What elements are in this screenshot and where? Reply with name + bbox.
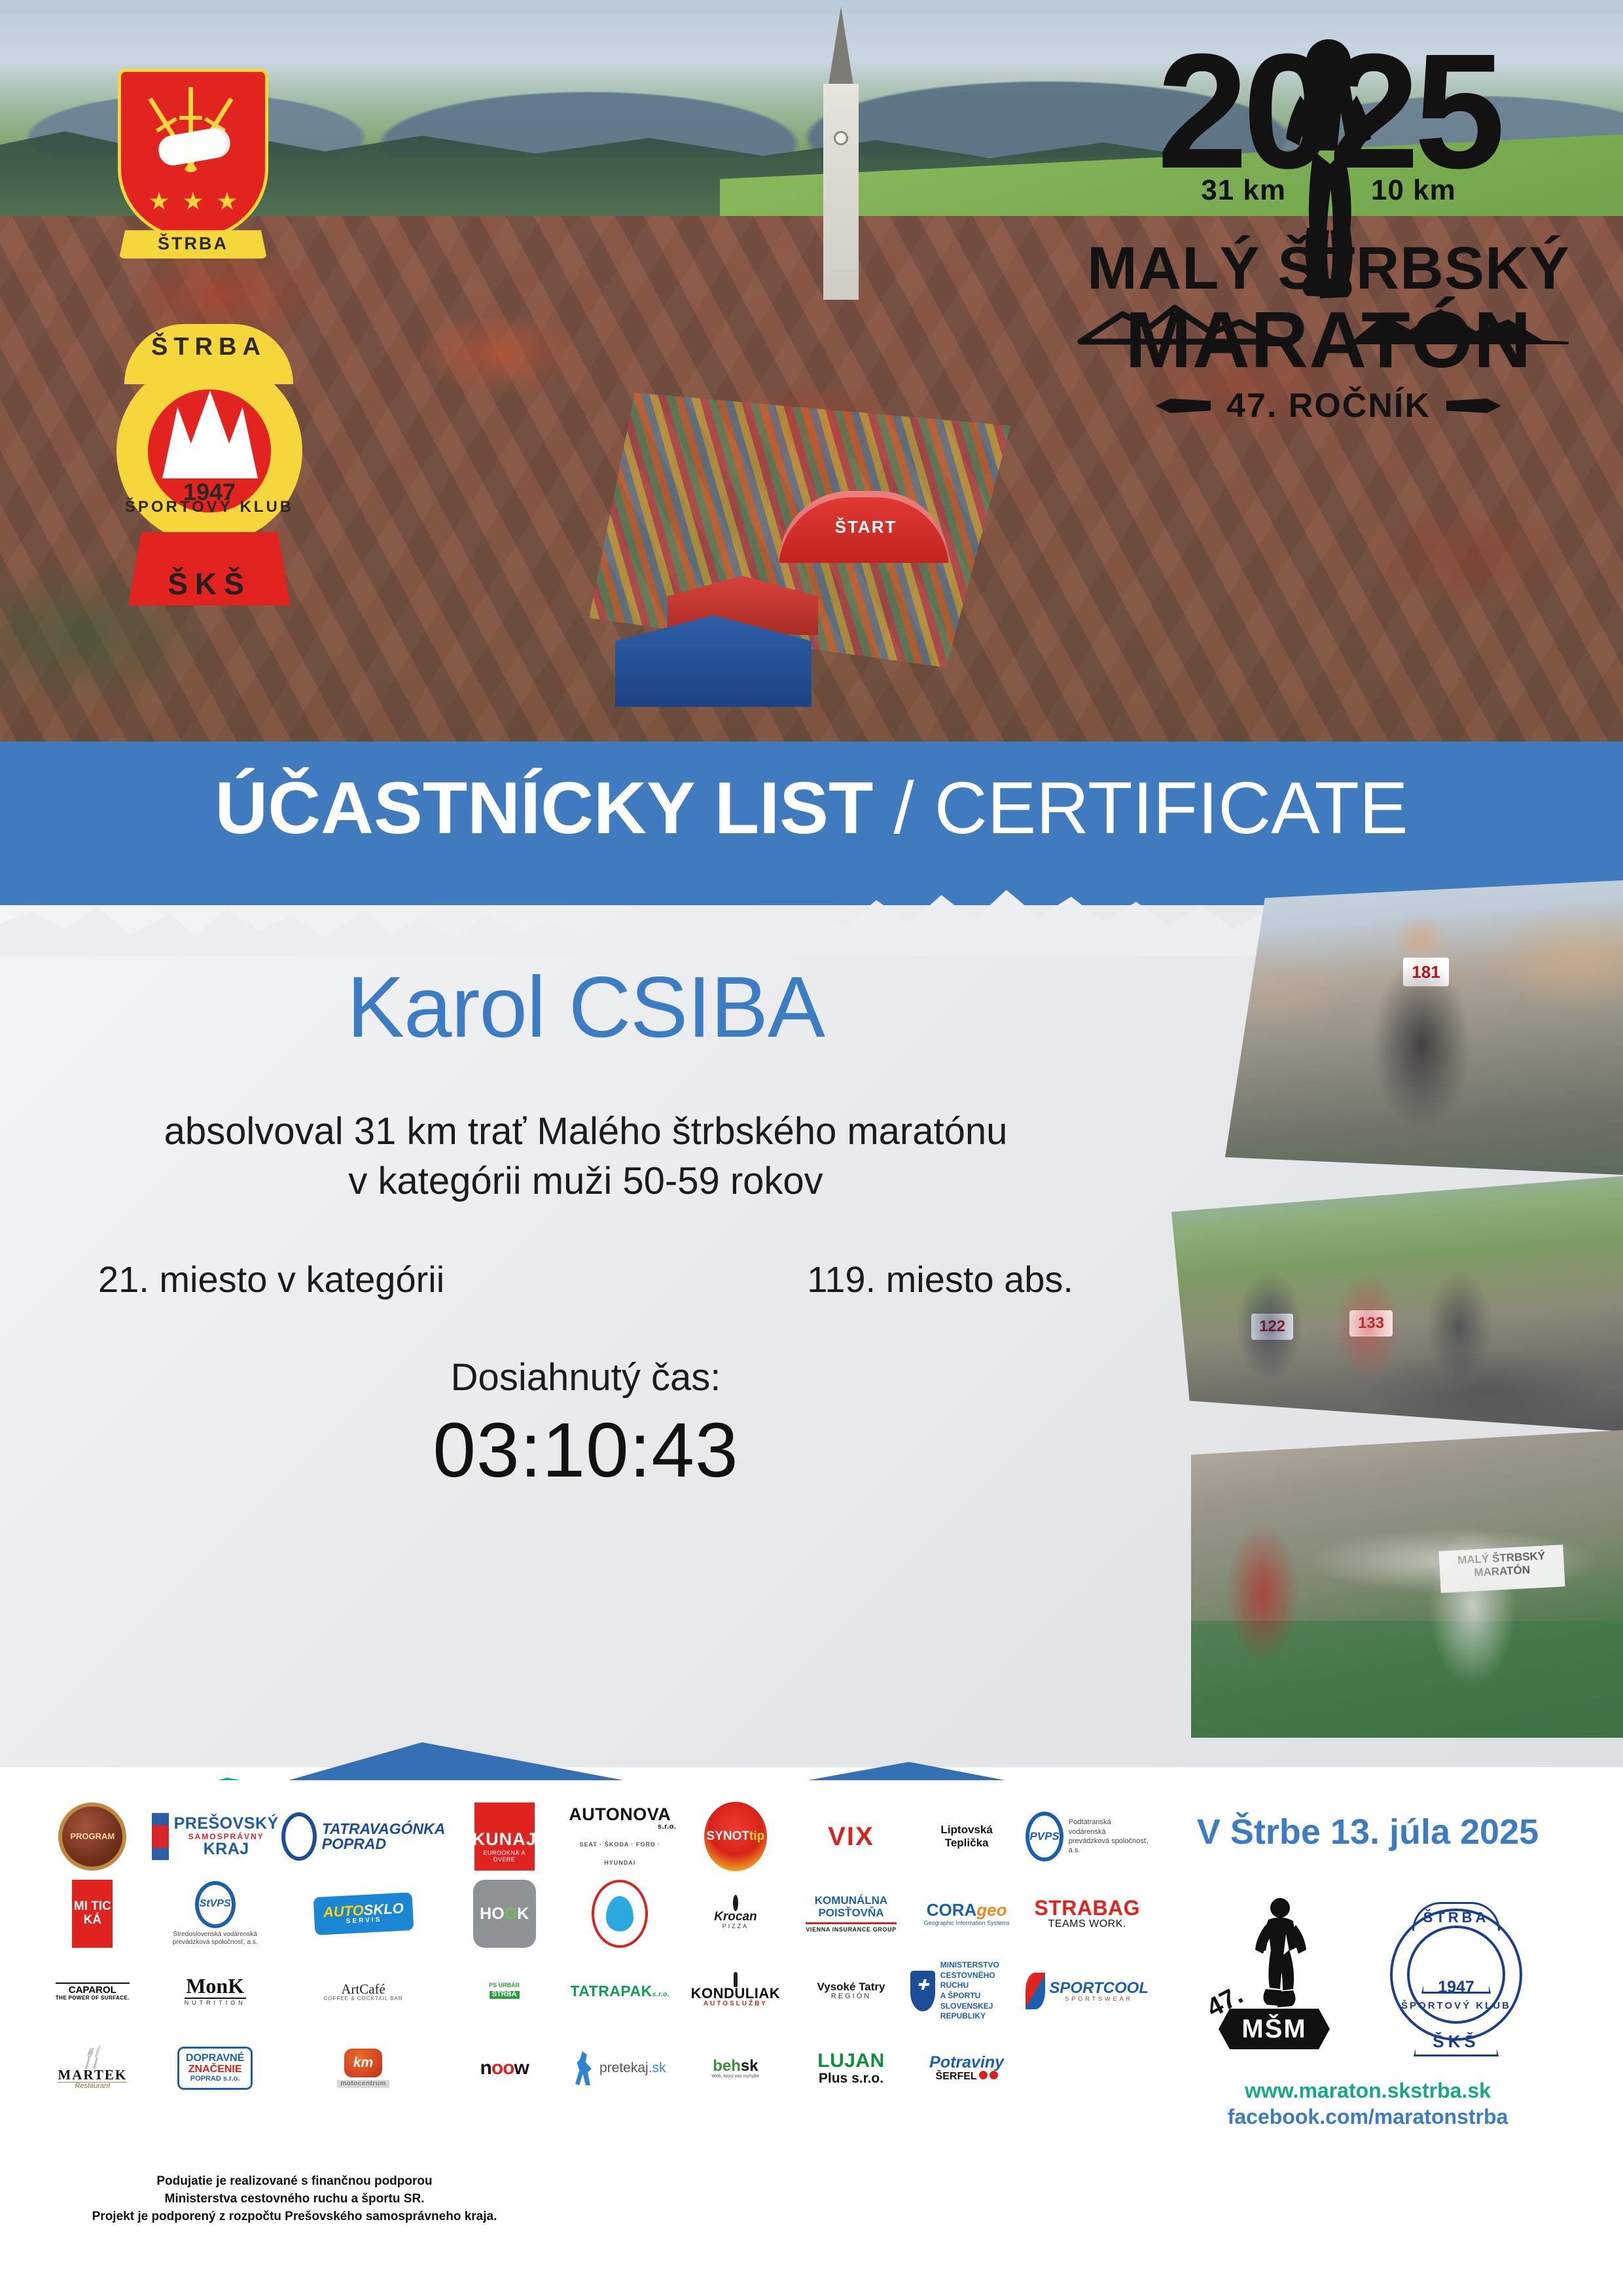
pd-strba-seal-icon <box>592 1880 648 1948</box>
footer-links: www.maraton.skstrba.sk facebook.com/mara… <box>1139 2079 1597 2129</box>
psurbar-line-1: PS URBÁR <box>489 1982 520 1988</box>
monk-sub: NUTRITION <box>185 1998 246 2006</box>
absolute-placement: 119. miesto abs. <box>807 1258 1073 1300</box>
stvps-abbr: StVPS <box>195 1881 236 1928</box>
sponsor-logo-tatrapak[interactable]: TATRAPAKs.r.o. <box>563 1954 677 2028</box>
caparol-name: CAPAROL <box>56 1982 130 1996</box>
potraviny-dots-icon <box>977 2071 998 2083</box>
church-spire <box>829 7 853 85</box>
placement-row: 21. miesto v kategórii 119. miesto abs. <box>0 1258 1171 1300</box>
krocan-name: Krocan <box>714 1910 757 1924</box>
sponsor-logo-dopravne-znacenie[interactable]: DOPRAVNÉ ZNAČENIE POPRAD s.r.o. <box>152 2032 279 2105</box>
race-bib-number: 181 <box>1403 958 1449 986</box>
komunalna-line-1: KOMUNÁLNA <box>806 1894 896 1907</box>
martek-name: MARTEK <box>58 2068 127 2082</box>
ministerstvo-line-3: A ŠPORTU <box>940 1991 1024 2001</box>
certificate-title-en: CERTIFICATE <box>935 767 1408 849</box>
hook-name: HOOK <box>473 1880 536 1948</box>
disclaimer-line-2: Ministerstva cestovného ruchu a športu S… <box>39 2191 550 2208</box>
sponsor-section: PROGRAM PREŠOVSKÝ SAMOSPRÁVNY KRAJ TATRA… <box>0 1780 1623 2296</box>
sponsor-logo-strabag[interactable]: STRABAG TEAMS WORK. <box>1026 1877 1149 1950</box>
church-body <box>823 84 859 300</box>
club-crest-top-text: ŠTRBA <box>151 333 266 361</box>
komunalna-line-2: POISŤOVŇA <box>806 1907 896 1919</box>
dopravne-line-3: POPRAD s.r.o. <box>186 2075 245 2083</box>
sportcool-name: SPORTCOOL <box>1049 1980 1149 1996</box>
psurbar-line-2: ŠTRBA <box>490 1991 520 1999</box>
race-bib-number: 122 <box>1251 1314 1293 1340</box>
sponsor-logo-synot-tip[interactable]: SYNOTtip <box>679 1800 793 1873</box>
sponsor-logo-ministerstvo[interactable]: MINISTERSTVO CESTOVNÉHO RUCHU A ŠPORTU S… <box>910 1954 1024 2028</box>
sponsor-logo-tatravagonka[interactable]: TATRAVAGÓNKA POPRAD <box>281 1800 446 1873</box>
vysoketatry-name: Vysoké Tatry <box>817 1981 885 1993</box>
beh-name: beh <box>713 2057 741 2075</box>
sponsor-logo-artcafe[interactable]: ArtCafé COFFEE & COCKTAIL BAR <box>281 1954 446 2028</box>
sponsor-logo-komunalna-poistovna[interactable]: KOMUNÁLNA POISŤOVŇA VIENNA INSURANCE GRO… <box>794 1877 908 1950</box>
disclaimer-line-3: Projekt je podporený z rozpočtu Prešovsk… <box>39 2208 550 2226</box>
sponsor-logo-potraviny-serfel[interactable]: Potraviny ŠERFEL <box>910 2032 1024 2105</box>
sponsor-logo-vysoke-tatry[interactable]: Vysoké Tatry REGIÓN <box>794 1954 908 2028</box>
sponsor-logo-km-motocentrum[interactable]: km motocentrum <box>281 2032 446 2105</box>
event-edition-row: 47. ROČNÍK <box>1070 386 1587 425</box>
pretekaj-name: pretekaj <box>599 2060 649 2075</box>
certificate-title: ÚČASTNÍCKY LIST / CERTIFICATE <box>0 772 1623 845</box>
start-arch-label: ŠTART <box>823 517 908 537</box>
cutlery-icon: 🍴 <box>79 2045 106 2069</box>
footer-right-column: V Štrbe 13. júla 2025 47. M <box>1139 1792 1597 2129</box>
arrow-left-icon <box>1156 399 1211 413</box>
komunalna-sub: VIENNA INSURANCE GROUP <box>806 1927 896 1933</box>
komunalna-divider <box>806 1922 896 1924</box>
sponsor-logo-ps-urbar-strba[interactable]: PS URBÁR ŠTRBA <box>448 1954 561 2028</box>
sponsor-logo-caparol[interactable]: CAPAROL THE POWER OF SURFACE. <box>36 1954 149 2028</box>
pvps-desc-2: prevádzková spoločnosť, a.s. <box>1069 1837 1149 1856</box>
sponsor-logo-autosklo-servis[interactable]: AUTOSKLO SERVIS <box>281 1877 446 1950</box>
church-tower <box>811 7 870 347</box>
sponsor-logo-pd-strba[interactable] <box>563 1877 677 1950</box>
strba-municipal-crest-icon: ŠTRBA <box>118 69 268 259</box>
krocan-turkey-icon <box>733 1895 738 1911</box>
beh-accent: sk <box>741 2057 758 2075</box>
certificate-content: Karol CSIBA absolvoval 31 km trať Malého… <box>0 962 1171 1495</box>
dopravne-line-1: DOPRAVNÉ <box>186 2053 245 2064</box>
club-crest-bottom-text: ŠKŠ <box>168 566 251 601</box>
synot-accent: tip <box>749 1830 764 1843</box>
pvps-abbr: PVPS <box>1026 1812 1063 1861</box>
tatravagonka-line-2: POPRAD <box>322 1837 446 1852</box>
water-drop-icon <box>606 1896 633 1931</box>
sponsor-logo-autonova[interactable]: AUTONOVA s.r.o. SEAT · ŠKODA · FORD · HY… <box>563 1800 677 1873</box>
kunaj-tagline: EUROOKNÁ A DVERE <box>474 1850 535 1863</box>
sks-club-crest-icon: ŠTRBA 1947 ŠPORTOVÝ KLUB ŠKŠ <box>105 324 314 605</box>
autosklo-accent: SKLO <box>363 1900 404 1918</box>
athlete-name: Karol CSIBA <box>0 962 1171 1053</box>
msm-emblem-icon: 47. MŠM <box>1204 1896 1335 2053</box>
event-brand-lockup: 2025 31 km 10 km MALÝ ŠTRBSKÝ MARATÓN 47… <box>1070 39 1587 425</box>
artcafe-sub: COFFEE & COCKTAIL BAR <box>324 1996 403 2001</box>
sponsor-logo-monk-nutrition[interactable]: MonK NUTRITION <box>152 1954 279 2028</box>
sks-stamp-bottom: ŠKŠ <box>1414 2022 1499 2056</box>
km-badge-icon: km <box>344 2049 382 2077</box>
finish-time-value: 03:10:43 <box>0 1406 1171 1495</box>
website-link[interactable]: www.maraton.skstrba.sk <box>1139 2079 1597 2103</box>
sponsor-logo-program-trencin[interactable]: PROGRAM <box>36 1800 149 1873</box>
pretekaj-accent: .sk <box>649 2060 666 2075</box>
autonova-name: AUTONOVA <box>569 1804 671 1824</box>
funding-disclaimer: Podujatie je realizované s finančnou pod… <box>39 2173 550 2226</box>
stvps-desc-2: prevádzková spoločnosť, a.s. <box>173 1939 258 1947</box>
sponsor-logo-krocan-pizza[interactable]: Krocan PIZZA <box>679 1877 793 1950</box>
sponsor-logo-liptovska-teplicka[interactable]: Liptovská Teplička <box>910 1800 1024 1873</box>
club-crest-arc-text: ŠPORTOVÝ KLUB <box>105 498 314 516</box>
category-placement: 21. miesto v kategórii <box>98 1258 444 1300</box>
facebook-link[interactable]: facebook.com/maratonstrba <box>1139 2105 1597 2129</box>
konduliak-name: KONDULIAK <box>691 1986 781 2001</box>
certificate-title-sk: ÚČASTNÍCKY LIST <box>215 767 873 849</box>
km-sub: motocentrum <box>337 2080 389 2089</box>
program-trencin-seal-icon: PROGRAM <box>58 1803 126 1871</box>
stvps-desc-1: Stredoslovenská vodárenská <box>173 1931 258 1939</box>
description-line-1: absolvoval 31 km trať Malého štrbského m… <box>0 1107 1171 1157</box>
finish-time-label: Dosiahnutý čas: <box>0 1355 1171 1399</box>
runner-figure-icon <box>574 2051 595 2085</box>
noow-smile-icon: oo <box>491 2057 514 2079</box>
sponsor-logo-konduliak[interactable]: KONDULIAK AUTOSLUŽBY <box>679 1954 793 2028</box>
strabag-tagline: TEAMS WORK. <box>1034 1919 1140 1930</box>
presovsky-flag-icon <box>152 1813 169 1860</box>
slovak-coat-of-arms-icon <box>910 1971 935 2011</box>
runner-silhouette-icon <box>1260 33 1397 314</box>
sponsor-logo-pretekaj-sk[interactable]: pretekaj.sk <box>563 2032 677 2105</box>
msm-abbreviation: MŠM <box>1219 2009 1330 2049</box>
crest-municipality-name: ŠTRBA <box>158 228 228 254</box>
strabag-name: STRABAG <box>1034 1897 1140 1920</box>
certificate-title-separator: / <box>873 767 934 849</box>
lujan-line-1: LUJAN <box>817 2051 885 2072</box>
tatrapak-suffix: s.r.o. <box>652 1991 669 1998</box>
pvps-desc-1: Podtatranská vodárenská <box>1069 1818 1149 1837</box>
certificate-description: absolvoval 31 km trať Malého štrbského m… <box>0 1107 1171 1207</box>
hook-leaf-icon: O <box>505 1905 517 1922</box>
caparol-tagline: THE POWER OF SURFACE. <box>56 1996 130 2001</box>
noow-name: noow <box>480 2058 529 2079</box>
autonova-brands: SEAT · ŠKODA · FORD · HYUNDAI <box>580 1841 661 1866</box>
liptovska-line-1: Liptovská <box>940 1823 992 1837</box>
sponsor-logo-sportcool[interactable]: SPORTCOOL SPORTSWEAR <box>1026 1954 1149 2028</box>
race-bib-number: 133 <box>1349 1310 1393 1336</box>
sponsor-logo-martek[interactable]: 🍴 MARTEK Restaurant <box>36 2032 149 2105</box>
kunaj-name: KUNAJ <box>473 1830 537 1848</box>
synot-name: SYNOT <box>707 1830 749 1843</box>
vix-name: VIX <box>813 1803 889 1871</box>
potraviny-line-2: ŠERFEL <box>936 2071 977 2082</box>
ministerstvo-line-4: SLOVENSKEJ REPUBLIKY <box>940 2001 1024 2022</box>
footer-emblems: 47. MŠM ŠTRBA 1947 ŠPORTOVÝ KLUB ŠKŠ <box>1139 1893 1597 2056</box>
sponsor-logo-cora-geo[interactable]: CORAgeo Geographic Information Systems <box>910 1877 1024 1950</box>
miticka-name: MI TIC KÁ <box>72 1880 113 1948</box>
sponsor-logo-hook[interactable]: HOOK <box>448 1877 561 1950</box>
tatravagonka-oval-icon <box>281 1812 317 1861</box>
vysoketatry-sub: REGIÓN <box>817 1993 885 2001</box>
msm-runner-icon <box>1242 1896 1314 2014</box>
sponsor-logo-lujan-plus[interactable]: LUJAN Plus s.r.o. <box>794 2032 908 2105</box>
corageo-sub: Geographic Information Systems <box>924 1920 1010 1926</box>
description-line-2: v kategórii muži 50-59 rokov <box>0 1157 1171 1207</box>
psk-line-3: KRAJ <box>174 1840 279 1857</box>
church-clock-icon <box>834 131 848 145</box>
sponsor-logo-grid: PROGRAM PREŠOVSKÝ SAMOSPRÁVNY KRAJ TATRA… <box>36 1800 1149 2105</box>
photo-runner-group: 122 133 <box>1171 1176 1623 1431</box>
sportcool-swoosh-icon <box>1026 1973 1045 2009</box>
finish-banner-text: MALÝ ŠTRBSKÝ MARATÓN <box>1438 1545 1565 1593</box>
ministerstvo-line-1: MINISTERSTVO <box>940 1960 1024 1971</box>
arrow-right-icon <box>1446 399 1501 413</box>
ministerstvo-line-2: CESTOVNÉHO RUCHU <box>940 1971 1024 1991</box>
race-photo-collage: 181 122 133 MALÝ ŠTRBSKÝ MARATÓN <box>1171 880 1623 1744</box>
issue-date: V Štrbe 13. júla 2025 <box>1139 1812 1597 1852</box>
monk-name: MonK <box>185 1975 246 1998</box>
sponsor-logo-kunaj[interactable]: KUNAJ EUROOKNÁ A DVERE <box>448 1800 561 1873</box>
event-edition: 47. ROČNÍK <box>1226 386 1431 425</box>
sponsor-logo-beh-sk[interactable]: behsk Web, ktorý vás rozhýbe <box>679 2032 793 2105</box>
photo-female-runner: 181 <box>1225 880 1623 1175</box>
psk-line-1: PREŠOVSKÝ <box>174 1815 279 1832</box>
sks-stamp-year: 1947 <box>1381 1978 1531 1997</box>
artcafe-name: ArtCafé <box>324 1982 403 1996</box>
club-crest-bottom-banner: ŠKŠ <box>128 532 291 605</box>
krocan-sub: PIZZA <box>714 1924 757 1929</box>
autonova-suffix: s.r.o. <box>563 1823 677 1831</box>
sponsor-logo-stvps[interactable]: StVPS Stredoslovenská vodárenská prevádz… <box>152 1877 279 1950</box>
dopravne-line-2: ZNAČENIE <box>186 2064 245 2075</box>
corageo-accent: geo <box>976 1900 1007 1920</box>
sponsor-logo-vix[interactable]: VIX <box>794 1800 908 1873</box>
liptovska-line-2: Teplička <box>940 1837 992 1850</box>
mountain-range-icon <box>1077 296 1580 347</box>
martek-sub: Restaurant <box>58 2082 127 2090</box>
sponsor-logo-miticka[interactable]: MI TIC KÁ <box>36 1877 149 1950</box>
sks-stamp-arc-text: ŠPORTOVÝ KLUB <box>1381 2000 1531 2011</box>
tatravagonka-line-1: TATRAVAGÓNKA <box>322 1821 446 1837</box>
sponsor-logo-noow[interactable]: noow <box>448 2032 561 2105</box>
lujan-line-2: Plus s.r.o. <box>817 2072 885 2086</box>
tatrapak-name: TATRAPAK <box>570 1982 652 2000</box>
sponsor-logo-presovsky-kraj[interactable]: PREŠOVSKÝ SAMOSPRÁVNY KRAJ <box>152 1800 279 1873</box>
disclaimer-line-1: Podujatie je realizované s finančnou pod… <box>39 2173 550 2191</box>
beh-sub: Web, ktorý vás rozhýbe <box>711 2074 759 2079</box>
sponsor-logo-pvps[interactable]: PVPS Podtatranská vodárenská prevádzková… <box>1026 1800 1149 1873</box>
sportcool-sub: SPORTSWEAR <box>1049 1996 1149 2002</box>
konduliak-sub: AUTOSLUŽBY <box>691 2001 781 2008</box>
corageo-name: CORA <box>927 1900 977 1920</box>
potraviny-line-1: Potraviny <box>929 2054 1004 2071</box>
sks-stamp-emblem-icon: ŠTRBA 1947 ŠPORTOVÝ KLUB ŠKŠ <box>1381 1893 1531 2056</box>
